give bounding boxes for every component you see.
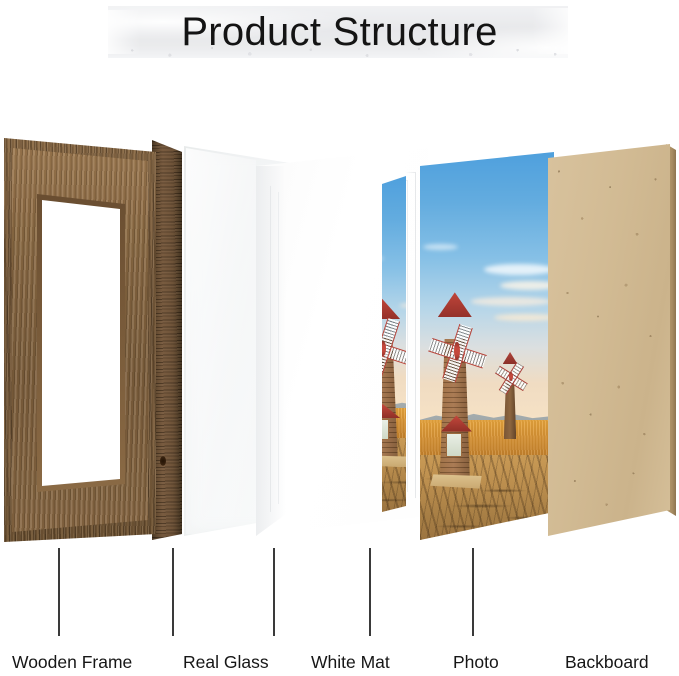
label-backboard: Backboard: [565, 650, 649, 674]
label-wooden-frame: Wooden Frame: [12, 650, 132, 674]
label-photo: Photo: [453, 650, 499, 674]
leader-lines: [0, 0, 679, 676]
label-real-glass: Real Glass: [183, 650, 269, 674]
label-white-mat: White Mat: [311, 650, 390, 674]
leader-line-photo: [369, 548, 371, 636]
leader-line-backboard: [472, 548, 474, 636]
leader-line-wooden-frame: [58, 548, 60, 636]
layer-labels: Wooden Frame Real Glass White Mat Photo …: [0, 650, 679, 676]
leader-line-real-glass: [172, 548, 174, 636]
product-structure-diagram: Product Structure: [0, 0, 679, 676]
leader-line-white-mat: [273, 548, 275, 636]
